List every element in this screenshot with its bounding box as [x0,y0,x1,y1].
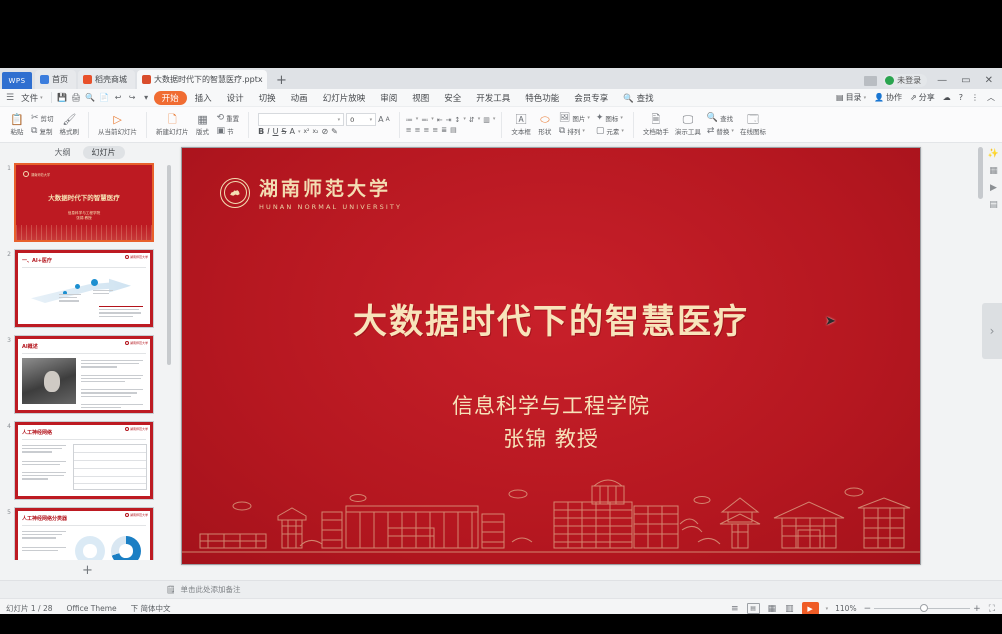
tab-home[interactable]: 首页 [35,70,76,89]
arrange-label: 排列 [567,126,580,136]
ribbon-tab-transition[interactable]: 切换 [252,91,283,105]
thumbnail-scrollbar[interactable] [167,165,171,365]
thumbnail-subtitle: 信息科学与工程学院 张锦 教授 [16,211,152,221]
people-icon: 👤 [874,93,884,102]
university-name-cn: 湖南师范大学 [259,174,402,201]
font-name-select[interactable]: ▾ [258,113,344,126]
badge-label: 湖南师范大学 [130,513,148,517]
picture-button[interactable]: 🖼 图片 ▾ [556,112,593,124]
avatar [885,76,894,85]
chevron-down-icon: ▾ [587,115,590,121]
slide-number: 2 [2,249,11,258]
align-controls-row: ≡ ≡ ≡ ≡ ≣ ▤ [406,126,496,134]
home-icon [40,75,49,84]
divider [22,353,146,354]
tab-presentation[interactable]: 大数据时代下的智慧医疗.pptx ✕ [137,70,267,89]
chevron-down-icon: ▾ [338,117,341,123]
design-ideas-icon[interactable]: ✨ [988,149,999,159]
tab-docer[interactable]: 稻壳商城 [78,70,135,89]
chevron-down-icon: ▾ [40,95,43,101]
university-badge: 湖南师范大学 [125,341,148,345]
view-sorter-button[interactable]: ▦ [767,604,778,614]
online-icons-button[interactable]: 🗔 在线图标 [737,114,769,136]
arrange-button[interactable]: ⧉ 排列 ▾ [556,125,593,137]
language-icon: 下 [131,604,139,613]
divider [22,525,146,526]
save-icon[interactable]: 💾 [56,91,69,104]
wps-office-window: WPS 首页 稻壳商城 大数据时代下的智慧医疗.pptx ✕ + 未登录 [0,68,1002,614]
replace-label: 替换 [716,126,729,136]
ribbon-tab-security[interactable]: 安全 [437,91,468,105]
undo-arrow-icon[interactable]: ↩ [112,91,125,104]
ribbon-tab-features[interactable]: 特色功能 [518,91,566,105]
zoom-handle[interactable] [920,604,928,612]
badge-label: 湖南师范大学 [130,427,148,431]
animation-pane-icon[interactable]: ▶ [990,183,997,193]
thumbnail-title: 大数据时代下的智慧医疗 [16,192,152,202]
seal-icon [125,255,129,259]
data-table [73,444,147,490]
underline-button[interactable]: U [273,127,279,136]
ribbon-tab-slideshow[interactable]: 幻灯片放映 [316,91,373,105]
menu-icon[interactable]: ☰ [4,93,16,103]
justify-button[interactable]: ≡ [432,126,438,134]
divider [51,92,52,103]
strikethrough-button[interactable]: S [281,127,286,136]
ribbon-group-font: ▾ 0 ▾ A A B I U S A [252,107,396,142]
ribbon-group-insert: 🄰 文本框 ⬭ 形状 🖼 图片 ▾ ⧉ 排列 ▾ [505,107,629,142]
reset-button[interactable]: ⟲ 重置 [214,112,243,124]
brush-icon: 🖌 [62,114,76,125]
copy-label: 复制 [39,126,52,136]
print-preview-icon[interactable]: 🔍 [84,91,97,104]
maximize-button[interactable]: ▭ [957,75,974,86]
list-item[interactable]: 4 人工神经网络 湖南师范大学 [2,421,175,500]
chevron-down-icon[interactable]: ▾ [298,129,301,135]
tab-docer-label: 稻壳商城 [95,74,127,85]
divider [22,267,146,268]
seal-icon [23,171,29,177]
shapes-icon: ⬭ [540,114,549,125]
print-icon[interactable]: 🖨 [70,91,83,104]
slide-number: 5 [2,507,11,516]
picture-icon: 🖼 [559,113,570,123]
ribbon-search-label: 查找 [637,94,654,104]
shapes-button[interactable]: ⬭ 形状 [534,114,556,136]
replace-button[interactable]: ⇄ 替换 ▾ [704,125,737,137]
view-normal-button[interactable]: ▤ [747,603,760,614]
present-tools-icon: 🖵 [683,114,694,125]
chevron-down-icon: ▾ [582,128,585,134]
collapse-ribbon-button[interactable]: ︿ [984,92,998,103]
ribbon-right-actions: ▤ 目录 ▾ 👤 协作 ⇗ 分享 ☁ ? ⋮ ︿ [833,92,1002,103]
icons-button[interactable]: ✦ 图标 ▾ [593,112,627,124]
slide-subtitle-line2: 张锦 教授 [182,423,920,456]
chevron-down-icon: ▾ [620,115,623,121]
node-dot-icon [91,279,98,286]
font-color-button[interactable]: A [290,127,295,136]
list-controls-row: ≔ ▾ ≕ ▾ ⇤ ⇥ ↕ ▾ ⇵ ▾ ▥ ▾ [406,116,496,124]
selection-pane-icon[interactable]: ▤ [989,200,998,210]
thumbnail-panel-tabs: 大纲 幻灯片 [0,143,175,161]
university-badge: 湖南师范大学 [125,513,148,517]
shrink-font-button[interactable]: A [386,116,390,123]
new-slide-label: 新建幻灯片 [156,126,189,136]
start-slideshow-button[interactable]: ▶ [802,602,819,614]
icons-label: 图标 [605,113,618,123]
elements-label: 元素 [606,126,619,136]
text-box-button[interactable]: 🄰 文本框 [508,114,534,136]
status-bar-right: ≡ ▤ ▦ ▥ ▶ ▾ 110% − + ⛶ [730,602,996,614]
screen: WPS 首页 稻壳商城 大数据时代下的智慧医疗.pptx ✕ + 未登录 [0,0,1002,634]
chevron-down-icon[interactable]: ▾ [416,116,419,124]
play-from-current-label: 从当前幻灯片 [98,126,137,136]
language-label: 简体中文 [141,604,171,613]
slide-number: 3 [2,335,11,344]
ribbon-tab-view[interactable]: 视图 [405,91,436,105]
account-label: 未登录 [897,75,921,86]
clear-format-button[interactable]: ⊘ [321,127,328,136]
slide-number: 1 [2,163,11,172]
new-slide-icon: 🗋 [168,114,177,125]
bullet-text-lines [22,445,68,482]
list-item[interactable]: 2 一、AI+医疗 湖南师范大学 [2,249,175,328]
new-tab-button[interactable]: + [269,73,294,89]
university-badge: 湖南师范大学 [125,427,148,431]
text-direction-button[interactable]: ⇵ [469,116,475,124]
layout-icon: ▦ [197,114,207,125]
search-icon: 🔍 [707,113,718,123]
thumbnail-list[interactable]: 1 湖南师范大学 大数据时代下的智慧医疗 信息科学与工程学院 张锦 教授 [0,161,175,560]
cloud-icon[interactable]: ☁ [940,93,954,102]
section-button[interactable]: ▣ 节 [214,125,243,137]
new-slide-button[interactable]: 🗋 新建幻灯片 [153,114,192,136]
ribbon-tab-devtools[interactable]: 开发工具 [469,91,517,105]
collaborate-label: 协作 [886,92,902,103]
thumbnail-slide-5[interactable]: 人工神经网络分类器 湖南师范大学 [14,507,154,560]
export-pdf-icon[interactable]: 📄 [98,91,111,104]
line-spacing-button[interactable]: ↕ [454,116,460,124]
font-size-select[interactable]: 0 ▾ [346,113,376,126]
ribbon-tab-design[interactable]: 设计 [220,91,251,105]
share-button[interactable]: ⇗ 分享 [907,92,938,103]
font-size-value: 0 [350,116,354,124]
university-logo: 湖南师范大学 [23,171,50,177]
layout-toggle-icon[interactable] [864,76,877,86]
note-box [99,306,145,319]
superscript-button[interactable]: x² [304,128,310,135]
paste-label: 粘贴 [11,126,24,136]
ribbon-content: 📋 粘贴 ✂ 剪切 ⧉ 复制 🖌 格式刷 [0,107,1002,143]
node-dot-icon [75,284,80,289]
ribbon-tab-bar: ☰ 文件 ▾ 💾 🖨 🔍 📄 ↩ ↪ ▾ 开始 插入 设计 切换 动画 幻灯片放… [0,89,1002,107]
file-menu-button[interactable]: 文件 ▾ [17,92,47,104]
divider [501,112,502,138]
scatter-plot-icon [75,536,105,560]
ribbon-group-slideshow: ▷ 从当前幻灯片 [92,107,143,142]
close-window-button[interactable]: ✕ [981,75,997,86]
paste-icon: 📋 [10,114,24,125]
align-left-button[interactable]: ≡ [406,126,412,134]
align-center-button[interactable]: ≡ [415,126,421,134]
view-reading-button[interactable]: ▥ [784,604,795,614]
current-slide[interactable]: 湖南师范大学 HUNAN NORMAL UNIVERSITY 大数据时代下的智慧… [181,147,921,565]
theme-label[interactable]: Office Theme [67,604,117,613]
find-button[interactable]: 🔍 查找 [704,112,737,124]
reset-label: 重置 [226,113,239,123]
distribute-button[interactable]: ≣ [441,126,447,134]
thumbnail-title: 人工神经网络 [22,429,52,436]
caption-lines [59,294,83,304]
language-indicator[interactable]: 下 简体中文 [131,603,171,614]
more-options-button[interactable]: ⋮ [968,93,982,102]
campus-skyline-icon [182,472,921,564]
chevron-down-icon: ▾ [621,128,624,134]
list-item[interactable]: 1 湖南师范大学 大数据时代下的智慧医疗 信息科学与工程学院 张锦 教授 [2,163,175,242]
badge-label: 湖南师范大学 [130,341,148,345]
scissors-icon: ✂ [31,113,39,123]
chevron-down-icon: ▾ [370,117,373,123]
bullets-button[interactable]: ≔ [406,116,413,124]
divider [633,112,634,138]
align-right-button[interactable]: ≡ [423,126,429,134]
ribbon-group-tools: 🗎 文档助手 🖵 演示工具 🔍 查找 ⇄ 替换 ▾ [637,107,772,142]
university-badge: 湖南师范大学 [125,255,148,259]
highlight-button[interactable]: ✎ [331,127,338,136]
tab-slides[interactable]: 幻灯片 [83,146,125,159]
italic-button[interactable]: I [267,127,269,136]
seal-icon [125,427,129,431]
doc-assistant-label: 文档助手 [643,126,669,136]
star-icon: ✦ [596,113,604,123]
decrease-indent-button[interactable]: ⇤ [437,116,443,124]
docer-icon [83,75,92,84]
slide-canvas[interactable]: 湖南师范大学 HUNAN NORMAL UNIVERSITY 大数据时代下的智慧… [175,143,1002,580]
zoom-in-button[interactable]: + [973,604,981,614]
pie-chart-icon [111,536,141,560]
chevron-down-icon[interactable]: ▾ [478,116,481,124]
picture-label: 图片 [572,113,585,123]
window-controls: 未登录 — ▭ ✕ [864,74,1002,89]
toc-label: 目录 [846,92,862,103]
toc-button[interactable]: ▤ 目录 ▾ [833,92,869,103]
ribbon-group-slides: 🗋 新建幻灯片 ▦ 版式 ⟲ 重置 ▣ 节 [150,107,245,142]
university-name-en: HUNAN NORMAL UNIVERSITY [259,203,402,211]
paste-button[interactable]: 📋 粘贴 [6,114,28,136]
slide-number: 4 [2,421,11,430]
ribbon-search-button[interactable]: 🔍 查找 [616,91,660,105]
university-name: 湖南师范大学 [31,172,50,177]
present-tools-button[interactable]: 🖵 演示工具 [672,114,704,136]
copy-button[interactable]: ⧉ 复制 [28,125,57,137]
right-sidebar-tools: ✨ ▦ ▶ ▤ [987,149,1000,210]
divider [146,112,147,138]
tab-home-label: 首页 [52,74,68,85]
thumbnail-slide-4[interactable]: 人工神经网络 湖南师范大学 [14,421,154,500]
body-text-lines [81,360,145,410]
format-painter-label: 格式刷 [60,126,80,136]
section-label: 节 [227,126,234,136]
elements-button[interactable]: ▢ 元素 ▾ [593,125,627,137]
replace-icon: ⇄ [707,126,715,136]
collaborate-button[interactable]: 👤 协作 [871,92,905,103]
section-icon: ▣ [217,126,226,136]
grow-font-button[interactable]: A [378,115,383,124]
slide-subtitle-line1: 信息科学与工程学院 [182,390,920,423]
notes-pane[interactable]: 🗒 单击此处添加备注 [0,580,1002,598]
thumbnail-title: 人工神经网络分类器 [22,515,67,522]
skyline-decoration-icon [16,225,152,240]
mouse-cursor-icon: ➤ [825,315,836,330]
thumbnail-slide-3[interactable]: AI概述 湖南师范大学 [14,335,154,414]
subscript-button[interactable]: x₂ [312,128,318,135]
ribbon-tab-review[interactable]: 审阅 [373,91,404,105]
present-tools-label: 演示工具 [675,126,701,136]
text-box-icon: 🄰 [516,114,527,125]
text-box-label: 文本框 [511,126,531,136]
file-menu-label: 文件 [21,92,38,104]
font-format-row: B I U S A ▾ x² x₂ ⊘ ✎ [258,127,390,136]
help-button[interactable]: ? [956,93,966,102]
reset-icon: ⟲ [217,113,225,123]
numbering-button[interactable]: ≕ [421,116,428,124]
copy-icon: ⧉ [31,126,37,136]
find-label: 查找 [720,113,733,123]
next-slide-button[interactable]: › [982,303,1002,359]
ribbon-tab-start[interactable]: 开始 [154,91,187,105]
account-badge[interactable]: 未登录 [883,74,927,87]
face-icon [44,371,60,392]
doc-assistant-button[interactable]: 🗎 文档助手 [640,114,672,136]
zoom-track[interactable] [874,608,970,610]
chevron-down-icon: ▾ [864,95,867,101]
list-item[interactable]: 3 AI概述 湖南师范大学 [2,335,175,414]
chevron-down-icon[interactable]: ▾ [463,116,466,124]
smartart-button[interactable]: ▤ [450,126,457,134]
toc-icon: ▤ [836,93,844,102]
online-icons-label: 在线图标 [740,126,766,136]
format-pane-icon[interactable]: ▦ [989,166,998,176]
editor-body: 大纲 幻灯片 1 湖南师范大学 大数据时 [0,143,1002,580]
thumbnail-slide-1[interactable]: 湖南师范大学 大数据时代下的智慧医疗 信息科学与工程学院 张锦 教授 [14,163,154,242]
fit-to-window-button[interactable]: ⛶ [988,604,996,614]
slide-thumbnail-panel: 大纲 幻灯片 1 湖南师范大学 大数据时 [0,143,175,580]
seal-icon [125,513,129,517]
ribbon-tab-insert[interactable]: 插入 [188,91,219,105]
divider [88,112,89,138]
chevron-down-icon[interactable]: ▾ [431,116,434,124]
list-item[interactable]: 5 人工神经网络分类器 湖南师范大学 [2,507,175,560]
layout-label: 版式 [196,126,209,136]
chevron-down-icon: ▾ [731,128,734,134]
format-painter-button[interactable]: 🖌 格式刷 [57,114,83,136]
cut-button[interactable]: ✂ 剪切 [28,112,57,124]
chevron-down-icon[interactable]: ▾ [493,116,496,124]
slide-counter: 幻灯片 1 / 28 [6,603,53,614]
university-logo: 湖南师范大学 HUNAN NORMAL UNIVERSITY [220,174,402,211]
ribbon-group-paragraph: ≔ ▾ ≕ ▾ ⇤ ⇥ ↕ ▾ ⇵ ▾ ▥ ▾ ≡ [403,107,499,142]
badge-label: 湖南师范大学 [130,255,148,259]
cut-label: 剪切 [41,113,54,123]
notes-placeholder: 单击此处添加备注 [181,584,241,595]
tab-outline[interactable]: 大纲 [51,146,75,159]
view-outline-button[interactable]: ≡ [730,604,740,614]
divider [399,112,400,138]
slide-subtitle[interactable]: 信息科学与工程学院 张锦 教授 [182,390,920,455]
window-tab-strip: WPS 首页 稻壳商城 大数据时代下的智慧医疗.pptx ✕ + 未登录 [0,68,1002,89]
tab-presentation-label: 大数据时代下的智慧医疗.pptx [154,74,263,85]
slide-title[interactable]: 大数据时代下的智慧医疗 [182,294,920,343]
search-icon: 🔍 [623,94,634,104]
zoom-out-button[interactable]: − [864,604,872,614]
arrange-icon: ⧉ [559,126,565,136]
redo-arrow-icon[interactable]: ↪ [126,91,139,104]
body-text-lines [22,531,68,553]
bold-button[interactable]: B [258,127,264,136]
ribbon-tab-animation[interactable]: 动画 [284,91,315,105]
thumbnail-slide-2[interactable]: 一、AI+医疗 湖南师范大学 [14,249,154,328]
shapes-label: 形状 [538,126,551,136]
add-slide-button[interactable]: + [0,560,175,580]
share-label: 分享 [919,92,935,103]
customize-qat-icon[interactable]: ▾ [140,91,153,104]
ribbon-group-clipboard: 📋 粘贴 ✂ 剪切 ⧉ 复制 🖌 格式刷 [3,107,85,142]
status-bar: 幻灯片 1 / 28 Office Theme 下 简体中文 ≡ ▤ ▦ ▥ ▶… [0,598,1002,614]
doc-assistant-icon: 🗎 [651,114,660,125]
columns-button[interactable]: ▥ [483,116,490,124]
elements-icon: ▢ [596,126,605,136]
thumbnail-subtitle-2: 张锦 教授 [16,216,152,221]
notes-icon: 🗒 [166,585,176,594]
ribbon-tab-member[interactable]: 会员专享 [567,91,615,105]
seal-icon [125,341,129,345]
online-icons-icon: 🗔 [747,114,759,125]
zoom-slider[interactable]: − + [864,604,981,614]
font-controls-row: ▾ 0 ▾ A A [258,113,390,126]
caption-lines [93,290,115,296]
wps-logo: WPS [2,72,32,89]
divider [248,112,249,138]
ppt-icon [142,75,151,84]
play-from-current-button[interactable]: ▷ 从当前幻灯片 [95,114,140,136]
thumbnail-title: 一、AI+医疗 [22,257,52,264]
increase-indent-button[interactable]: ⇥ [446,116,452,124]
canvas-vertical-scrollbar[interactable] [978,147,983,199]
layout-button[interactable]: ▦ 版式 [192,114,214,136]
seal-icon [220,178,250,208]
zoom-level-label: 110% [835,604,856,613]
minimize-button[interactable]: — [933,75,951,86]
thumbnail-title: AI概述 [22,343,38,350]
divider [22,439,146,440]
share-icon: ⇗ [910,93,917,102]
chevron-down-icon[interactable]: ▾ [826,606,829,612]
play-circle-icon: ▷ [113,114,121,125]
robot-photo [22,358,76,404]
